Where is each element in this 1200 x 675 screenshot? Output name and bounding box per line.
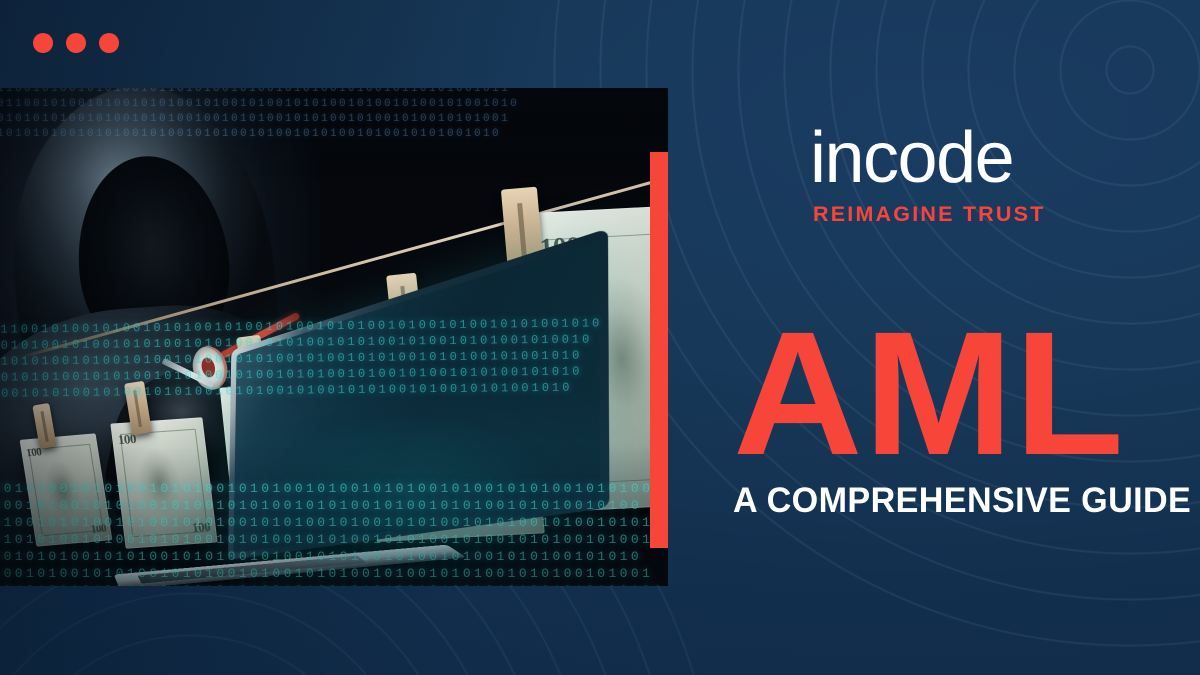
aml-guide-banner: 100 100 100 100 100 100 100 100 100 100 … [0, 0, 1200, 675]
logo-tagline: REIMAGINE TRUST [813, 204, 1045, 226]
artwork-panel: 100 100 100 100 100 100 100 100 100 100 … [0, 88, 668, 586]
decorative-dots-group [33, 33, 119, 53]
banknote-denomination: 100 [90, 522, 107, 535]
brand-logo: incode REIMAGINE TRUST [810, 128, 1045, 226]
page-title: AML [733, 318, 1182, 471]
artwork-inner: 100 100 100 100 100 100 100 100 100 100 … [0, 88, 668, 586]
laptop [120, 348, 550, 586]
logo-wordmark: incode [810, 128, 1045, 188]
vertical-red-accent-bar [650, 152, 668, 548]
content-column: incode REIMAGINE TRUST AML A COMPREHENSI… [733, 0, 1173, 675]
dot-3-icon [99, 33, 119, 53]
dot-2-icon [66, 33, 86, 53]
dot-1-icon [33, 33, 53, 53]
title-block: AML A COMPREHENSIVE GUIDE [733, 318, 1173, 518]
page-subtitle: A COMPREHENSIVE GUIDE [733, 483, 1162, 518]
